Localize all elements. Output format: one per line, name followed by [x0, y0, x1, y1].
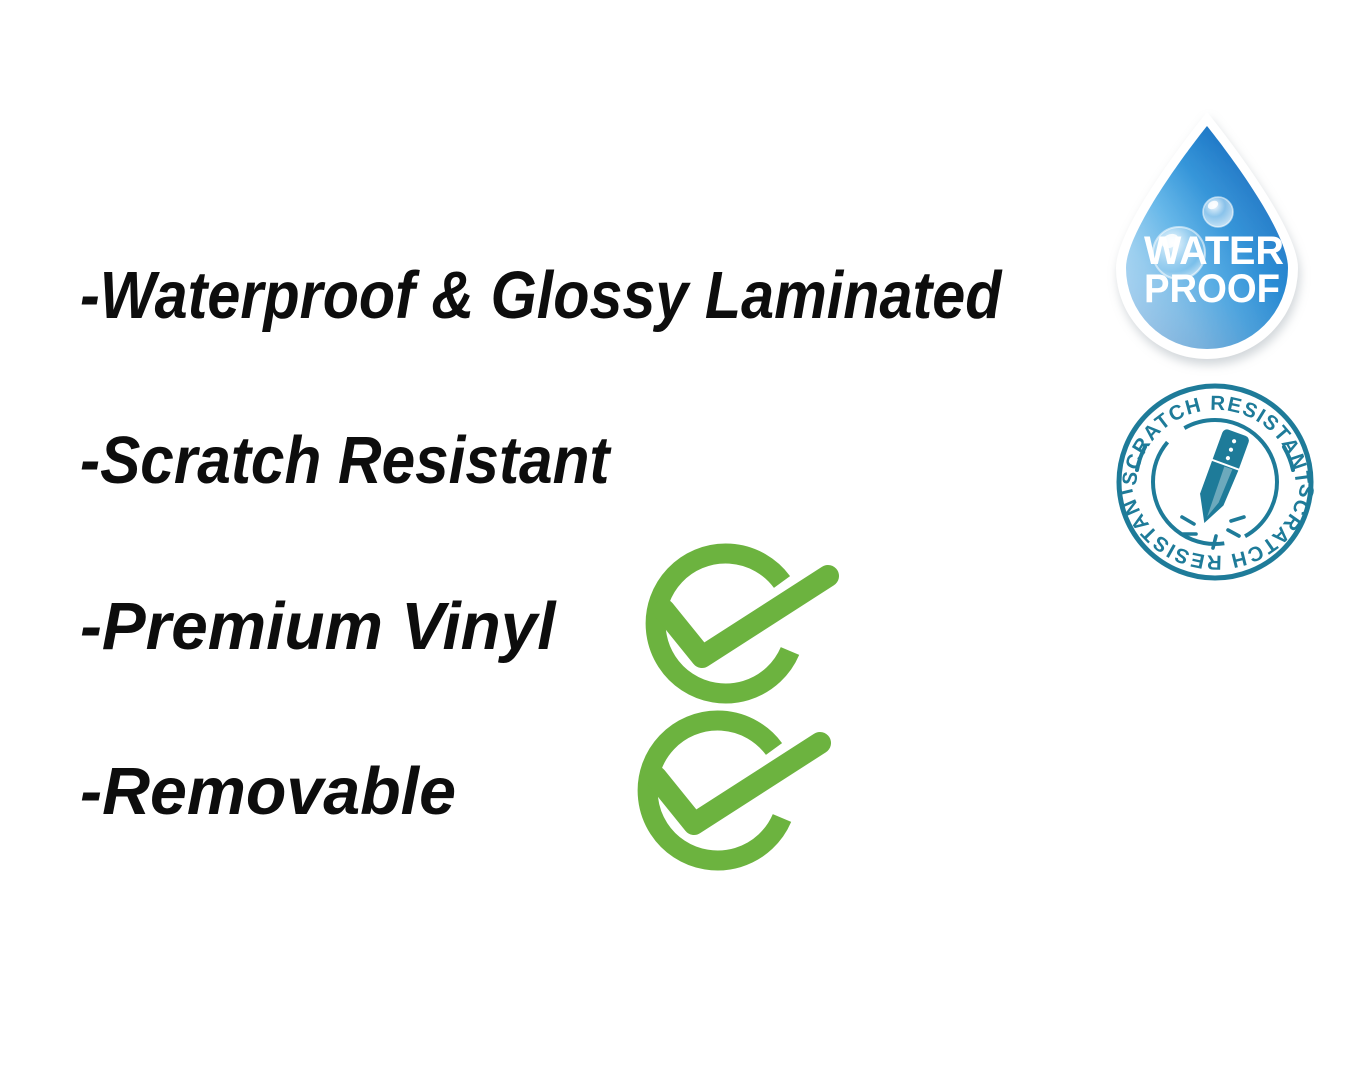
scratch-resistant-badge: SCRATCH RESISTANT SCRATCH RESISTANT [1112, 384, 1317, 578]
check-tick [656, 743, 820, 824]
water-bubble-small-icon [1203, 197, 1233, 227]
check-circle-removable [626, 717, 831, 885]
knife-icon [1191, 428, 1250, 528]
waterproof-badge: WATER PROOF [1108, 108, 1318, 360]
feature-item-removable: -Removable [80, 758, 460, 825]
feature-label: -Waterproof & Glossy Laminated [80, 262, 1001, 329]
waterproof-label-line2: PROOF [1144, 267, 1280, 311]
feature-item-scratch-resistant: -Scratch Resistant [80, 427, 668, 494]
check-tick [664, 576, 828, 657]
feature-label: -Scratch Resistant [80, 427, 609, 494]
feature-list: -Waterproof & Glossy Laminated -Scratch … [0, 0, 1120, 1080]
impact-spark-icon [1182, 517, 1244, 548]
feature-item-waterproof-glossy-laminated: -Waterproof & Glossy Laminated [80, 262, 1121, 329]
check-circle-premium-vinyl [634, 552, 839, 717]
feature-label: -Premium Vinyl [80, 593, 556, 660]
feature-item-premium-vinyl: -Premium Vinyl [80, 593, 565, 660]
product-feature-graphic: -Waterproof & Glossy Laminated -Scratch … [0, 0, 1359, 1080]
feature-label: -Removable [80, 758, 456, 825]
